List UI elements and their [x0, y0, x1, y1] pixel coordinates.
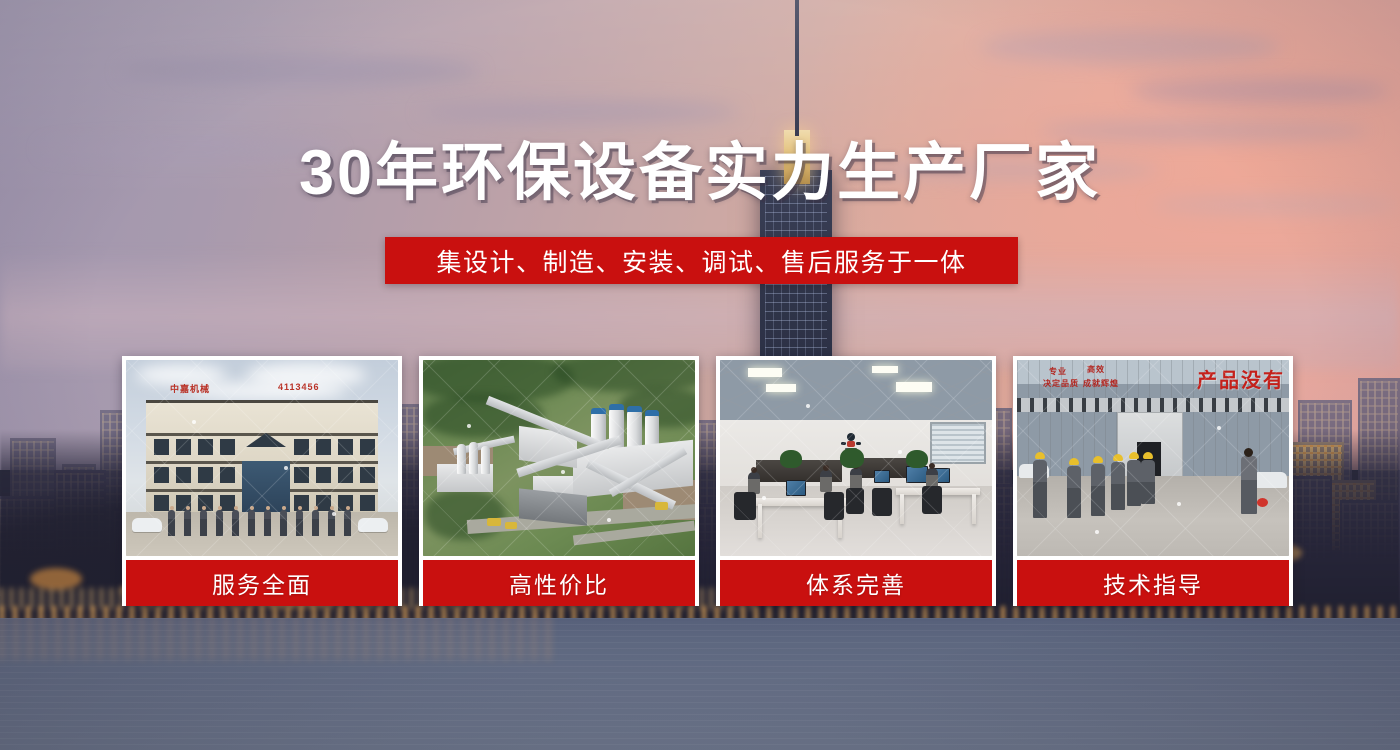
watermark-dot	[898, 450, 902, 454]
staff-person	[344, 510, 351, 536]
watermark-dot	[607, 518, 611, 522]
window	[154, 439, 169, 455]
monitor	[786, 480, 806, 496]
window	[294, 495, 309, 511]
staff-person	[296, 510, 303, 536]
window	[220, 495, 235, 511]
feature-card-list: 中嘉机械 4113456 服务全面	[122, 356, 1278, 606]
card-caption-text: 体系完善	[806, 566, 906, 600]
card-caption-text: 技术指导	[1103, 566, 1203, 600]
worker	[1091, 464, 1105, 516]
window	[220, 467, 235, 483]
watermark-dot	[332, 512, 336, 516]
window	[198, 467, 213, 483]
subtitle-text: 集设计、制造、安装、调试、售后服务于一体	[436, 243, 966, 279]
window	[338, 467, 353, 483]
chair	[922, 486, 942, 514]
street-light-glow	[30, 568, 82, 590]
worker	[1141, 460, 1155, 504]
chair	[734, 492, 756, 520]
card-caption-text: 服务全面	[212, 566, 312, 600]
window	[360, 467, 375, 483]
facade-band	[146, 433, 378, 436]
desk	[758, 504, 762, 538]
water-reflections	[0, 614, 560, 660]
staff-person	[168, 510, 175, 536]
card-caption-bar: 体系完善	[720, 560, 992, 606]
staff-person	[200, 510, 207, 536]
potted-plant	[780, 450, 802, 468]
workshop-slogan: 决定品质	[1043, 378, 1079, 389]
window	[176, 439, 191, 455]
window	[176, 467, 191, 483]
staff-person	[232, 510, 239, 536]
window	[316, 467, 331, 483]
excavator	[487, 518, 501, 526]
monitor	[906, 466, 928, 483]
facade-window-band	[1017, 398, 1289, 412]
company-sign-text: 中嘉机械	[170, 382, 210, 395]
staff-person	[264, 510, 271, 536]
worker	[1033, 460, 1047, 518]
window	[360, 439, 375, 455]
workshop-slogan: 高效	[1087, 364, 1105, 375]
window	[220, 439, 235, 455]
chair	[846, 488, 864, 514]
cement-silo	[457, 444, 466, 474]
silo-cap	[591, 408, 606, 414]
ceiling-light	[896, 382, 932, 392]
window	[294, 467, 309, 483]
worker	[1127, 460, 1141, 506]
staff-person	[312, 510, 319, 536]
window	[198, 495, 213, 511]
staff-person	[280, 510, 287, 536]
workshop-banner-text: 产品没有	[1197, 364, 1285, 393]
watermark-dot	[762, 496, 766, 500]
silo-cap	[645, 410, 659, 416]
watermark-dot	[284, 466, 288, 470]
employee	[748, 472, 760, 494]
watermark-dot	[561, 470, 565, 474]
cement-silo	[481, 446, 490, 474]
watermark-dot	[1177, 502, 1181, 506]
ceiling-light	[766, 384, 796, 392]
card-photo-workshop-training: 产品没有 专业 高效 决定品质 成就辉煌	[1017, 360, 1289, 556]
watermark-dot	[192, 420, 196, 424]
chair	[872, 488, 892, 516]
ceiling-light	[748, 368, 782, 377]
supervisor	[1241, 456, 1257, 514]
window-blinds	[930, 422, 986, 464]
employee	[850, 468, 862, 490]
feature-card[interactable]: 产品没有 专业 高效 决定品质 成就辉煌 技术指导	[1013, 356, 1293, 606]
window	[154, 467, 169, 483]
window	[154, 495, 169, 511]
watermark-dot	[806, 404, 810, 408]
excavator	[655, 502, 668, 510]
window	[316, 495, 331, 511]
monitor	[874, 470, 890, 483]
cloud	[420, 100, 740, 124]
plaza-ground	[126, 512, 398, 556]
cement-silo	[469, 442, 478, 474]
window	[198, 439, 213, 455]
potted-plant	[840, 448, 864, 468]
subtitle-banner: 集设计、制造、安装、调试、售后服务于一体	[385, 237, 1018, 284]
window	[338, 439, 353, 455]
card-photo-office-building: 中嘉机械 4113456	[126, 360, 398, 556]
page-title: 30年环保设备实力生产厂家	[0, 138, 1400, 208]
tower-spire	[795, 0, 799, 136]
window	[316, 439, 331, 455]
silo-cap	[609, 404, 624, 410]
company-phone-text: 4113456	[278, 382, 320, 392]
staff-person	[184, 510, 191, 536]
watermark-dot	[1095, 530, 1099, 534]
card-photo-plant-aerial	[423, 360, 695, 556]
parked-car	[1253, 472, 1287, 488]
silo-cap	[627, 406, 642, 412]
desk	[900, 494, 904, 524]
cloud	[980, 30, 1280, 64]
treeline	[425, 490, 505, 540]
feature-card[interactable]: 中嘉机械 4113456 服务全面	[122, 356, 402, 606]
chair	[824, 492, 844, 520]
worker	[1067, 466, 1081, 518]
window	[294, 439, 309, 455]
watermark-dot	[1217, 426, 1221, 430]
building-facade	[146, 400, 378, 512]
workshop-slogan: 专业	[1049, 366, 1067, 377]
cloud	[120, 56, 480, 86]
card-caption-bar: 服务全面	[126, 560, 398, 606]
card-caption-bar: 高性价比	[423, 560, 695, 606]
cloud	[1130, 78, 1390, 104]
window	[360, 495, 375, 511]
desk	[972, 494, 976, 524]
staff-person	[216, 510, 223, 536]
card-caption-text: 高性价比	[509, 566, 609, 600]
watermark-dot	[467, 424, 471, 428]
card-photo-office-interior	[720, 360, 992, 556]
card-caption-bar: 技术指导	[1017, 560, 1289, 606]
feature-card[interactable]: 高性价比	[419, 356, 699, 606]
excavator	[505, 522, 517, 529]
parked-car	[132, 518, 162, 532]
employee	[820, 470, 832, 492]
ceiling-light	[872, 366, 898, 373]
feature-card[interactable]: 体系完善	[716, 356, 996, 606]
workshop-slogan: 成就辉煌	[1083, 378, 1119, 389]
staff-person	[248, 510, 255, 536]
worker	[1111, 462, 1125, 510]
red-helmet	[1257, 498, 1268, 507]
parked-car	[358, 518, 388, 532]
potted-plant	[906, 450, 928, 468]
